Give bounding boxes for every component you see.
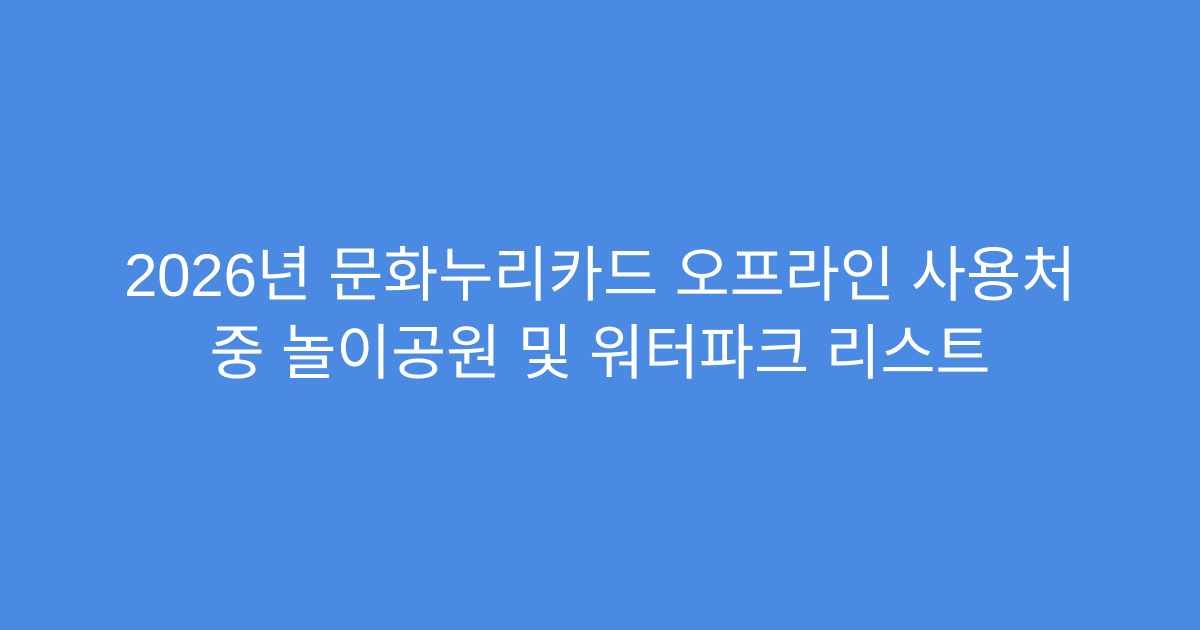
page-title: 2026년 문화누리카드 오프라인 사용처 중 놀이공원 및 워터파크 리스트 <box>100 237 1100 393</box>
og-image-card: 2026년 문화누리카드 오프라인 사용처 중 놀이공원 및 워터파크 리스트 <box>0 0 1200 630</box>
title-block: 2026년 문화누리카드 오프라인 사용처 중 놀이공원 및 워터파크 리스트 <box>100 237 1100 393</box>
